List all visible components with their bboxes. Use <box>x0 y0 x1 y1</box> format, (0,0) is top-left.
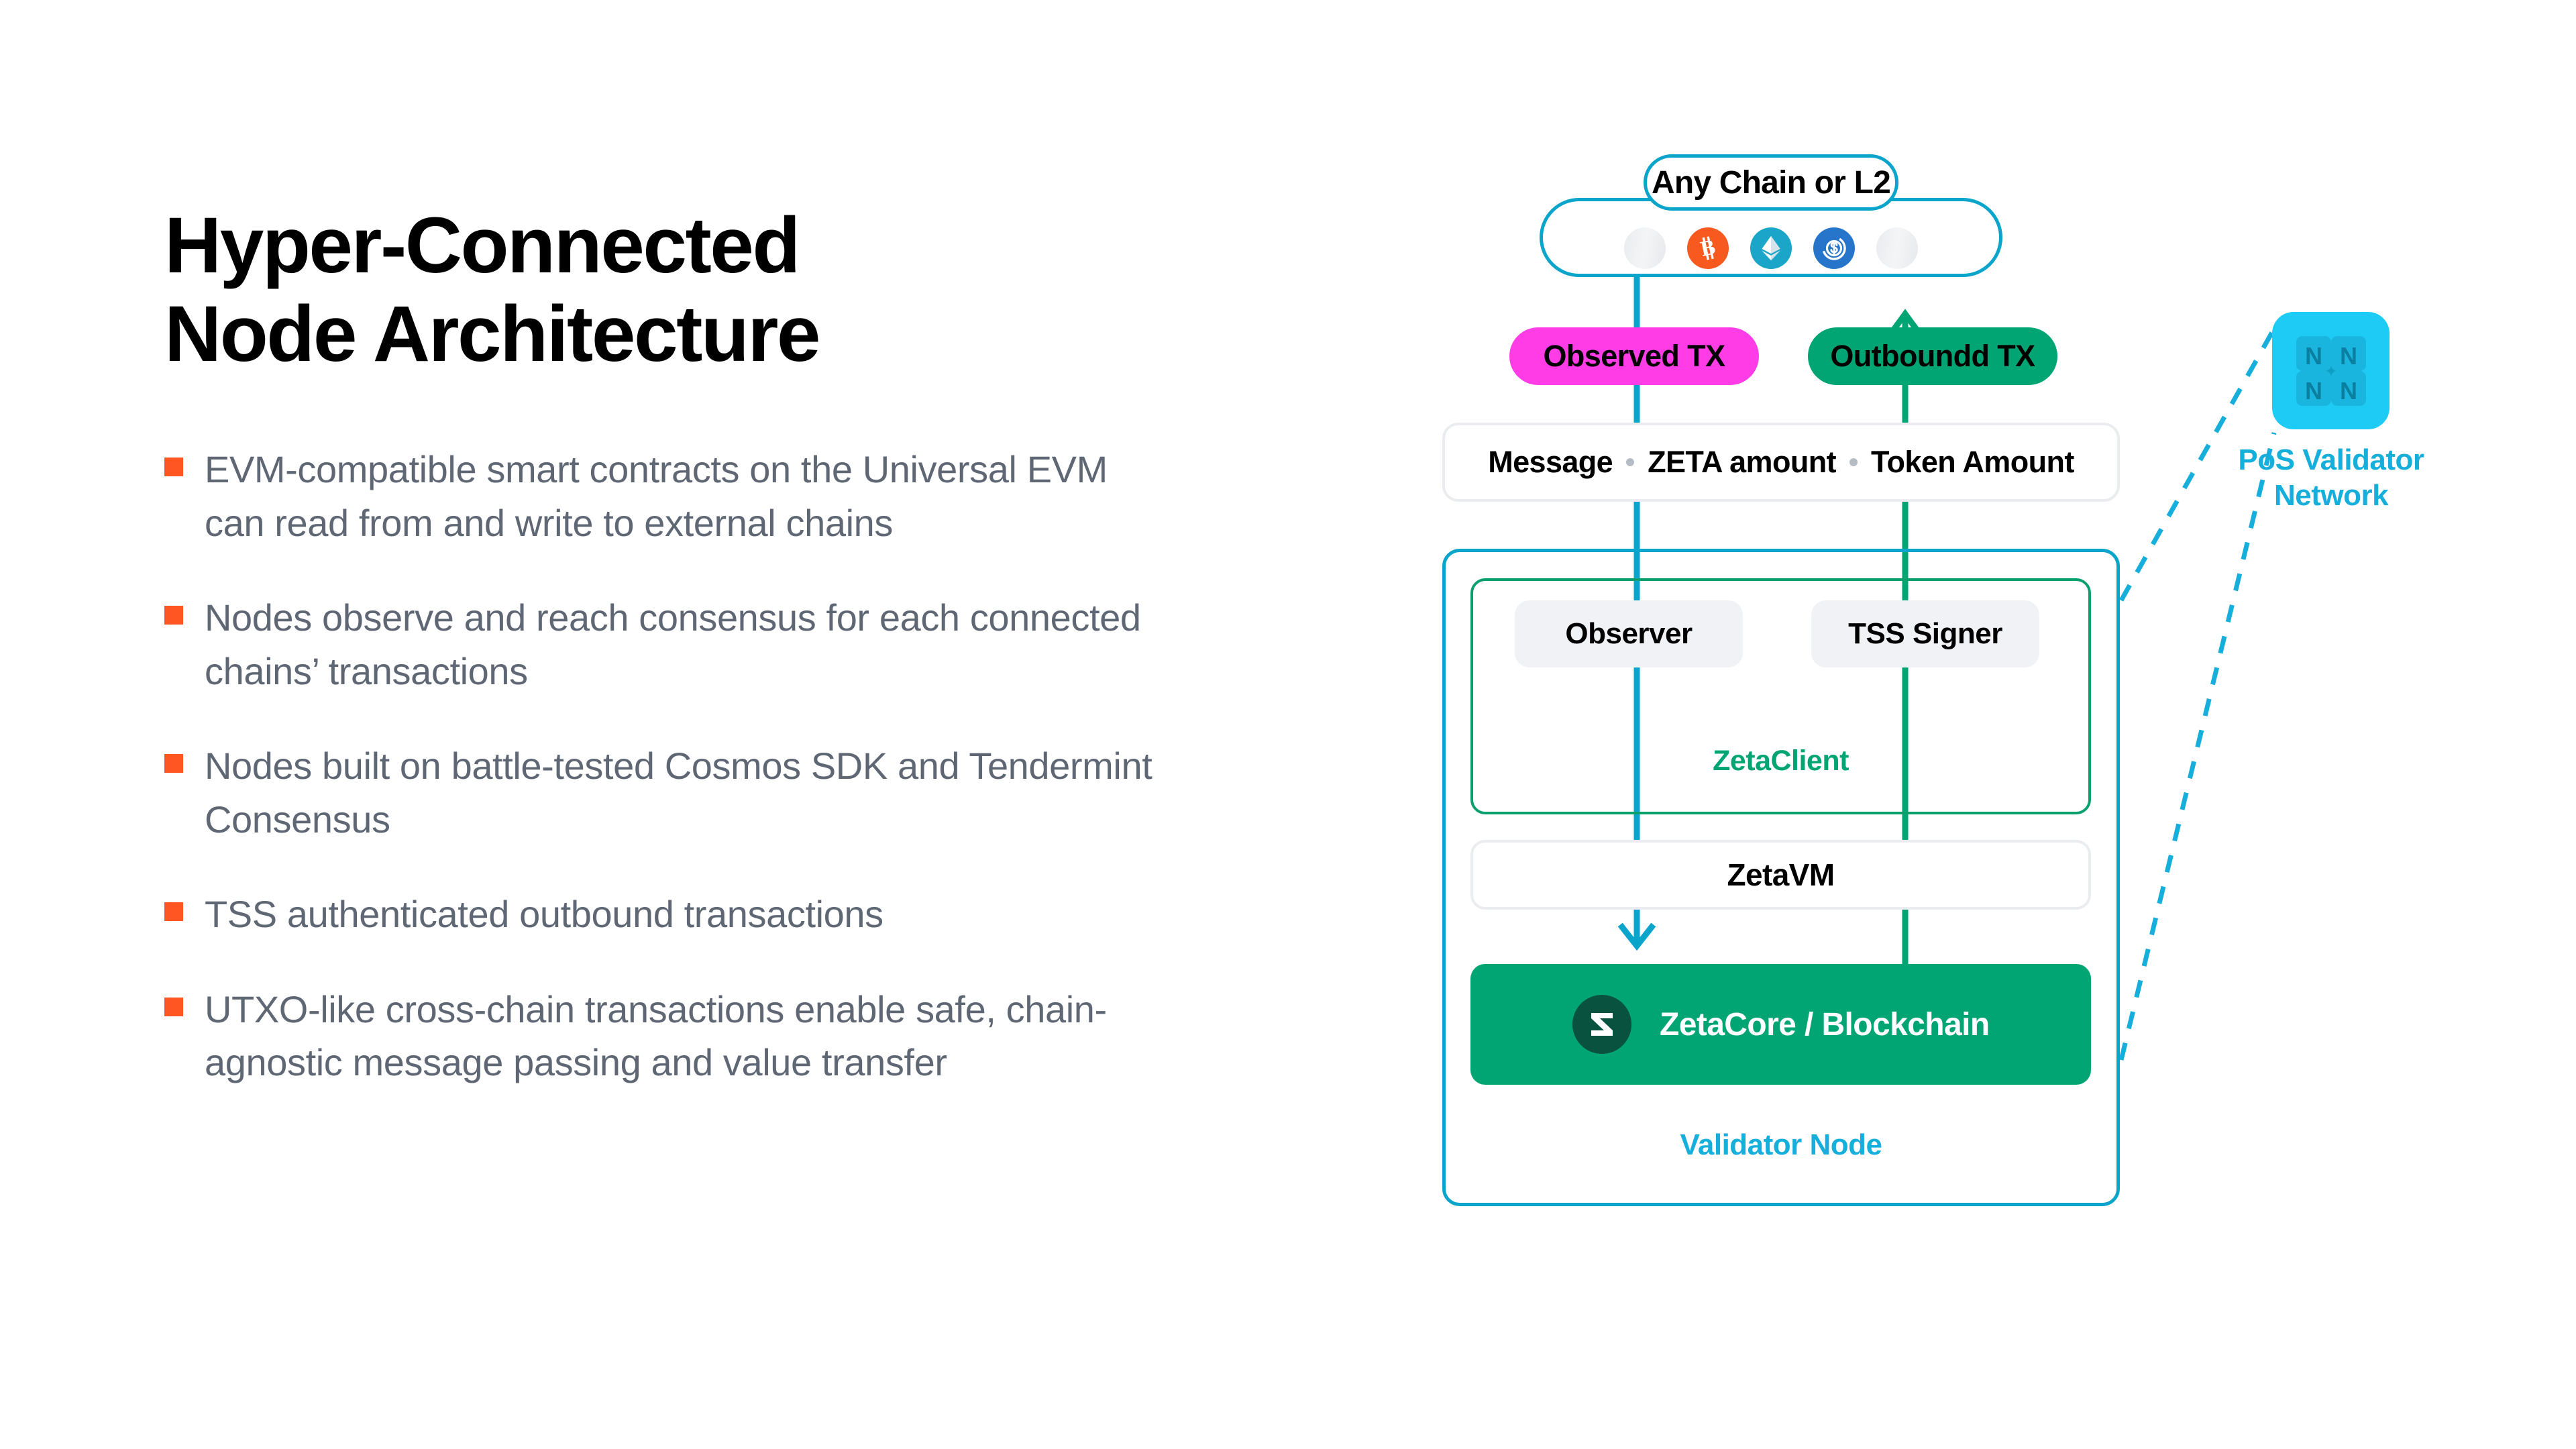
separator-dot-icon <box>1849 458 1858 466</box>
zetavm-box: ZetaVM <box>1470 840 2091 910</box>
list-item: TSS authenticated outbound transactions <box>164 888 1211 941</box>
pos-validator-network-icon: N N N N <box>2272 312 2390 429</box>
outbound-tx-badge: Outboundd TX <box>1808 327 2057 385</box>
list-item: EVM-compatible smart contracts on the Un… <box>164 443 1211 549</box>
zetacore-blockchain-box: ZetaCore / Blockchain <box>1470 964 2091 1085</box>
svg-text:N: N <box>2340 377 2357 405</box>
coin-icon-row: B <box>1540 220 2002 276</box>
zeta-amount-label: ZETA amount <box>1648 445 1836 480</box>
svg-text:N: N <box>2305 342 2322 370</box>
message-payload-box: Message ZETA amount Token Amount <box>1442 423 2120 502</box>
observed-tx-badge: Observed TX <box>1509 327 1759 385</box>
placeholder-coin-left-icon <box>1624 227 1666 269</box>
any-chain-title-pill: Any Chain or L2 <box>1644 154 1898 211</box>
bitcoin-coin-icon: B <box>1687 227 1729 269</box>
list-item-label: EVM-compatible smart contracts on the Un… <box>205 443 1157 549</box>
square-bullet-icon <box>164 458 183 476</box>
tss-signer-box: TSS Signer <box>1811 600 2039 667</box>
list-item-label: Nodes built on battle-tested Cosmos SDK … <box>205 739 1157 846</box>
outbound-tx-label: Outboundd TX <box>1830 339 2035 374</box>
placeholder-coin-right-icon <box>1876 227 1918 269</box>
square-bullet-icon <box>164 998 183 1016</box>
list-item-label: TSS authenticated outbound transactions <box>205 888 883 941</box>
observer-box: Observer <box>1515 600 1743 667</box>
list-item: UTXO-like cross-chain transactions enabl… <box>164 983 1211 1089</box>
feature-bullet-list: EVM-compatible smart contracts on the Un… <box>164 443 1211 1089</box>
token-amount-label: Token Amount <box>1871 445 2074 480</box>
square-bullet-icon <box>164 606 183 625</box>
observer-label: Observer <box>1565 617 1692 651</box>
left-content-column: Hyper-Connected Node Architecture EVM-co… <box>164 201 1211 1089</box>
zetachain-logo-icon <box>1572 995 1631 1054</box>
ethereum-coin-icon <box>1750 227 1792 269</box>
square-bullet-icon <box>164 902 183 921</box>
svg-text:N: N <box>2305 377 2322 405</box>
any-chain-label: Any Chain or L2 <box>1652 164 1890 201</box>
list-item: Nodes built on battle-tested Cosmos SDK … <box>164 739 1211 846</box>
svg-text:N: N <box>2340 342 2357 370</box>
zetacore-label: ZetaCore / Blockchain <box>1660 1006 1990 1043</box>
list-item-label: UTXO-like cross-chain transactions enabl… <box>205 983 1157 1089</box>
pos-validator-network-label: PoS Validator Network <box>2207 443 2455 514</box>
list-item-label: Nodes observe and reach consensus for ea… <box>205 591 1157 698</box>
page-title: Hyper-Connected Node Architecture <box>164 201 1211 378</box>
usdc-coin-icon <box>1813 227 1855 269</box>
message-part-label: Message <box>1488 445 1613 480</box>
observed-tx-label: Observed TX <box>1543 339 1725 374</box>
zetavm-label: ZetaVM <box>1727 857 1835 893</box>
pos-dashed-connector-bottom <box>2121 433 2274 1060</box>
list-item: Nodes observe and reach consensus for ea… <box>164 591 1211 698</box>
validator-node-label: Validator Node <box>1442 1128 2120 1162</box>
tss-signer-label: TSS Signer <box>1848 617 2002 651</box>
separator-dot-icon <box>1626 458 1634 466</box>
zeta-client-label: ZetaClient <box>1470 745 2091 777</box>
architecture-diagram: Any Chain or L2 B <box>1442 127 2489 1335</box>
square-bullet-icon <box>164 754 183 773</box>
